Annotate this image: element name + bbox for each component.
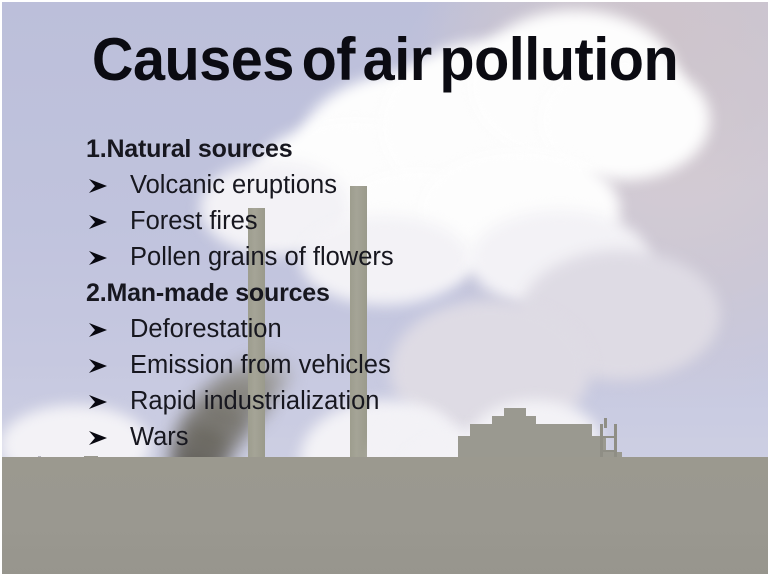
slide-title: Causesofairpollution: [15, 28, 754, 91]
arrowhead-bullet-icon: [88, 311, 116, 347]
outline-bullet-item: Emission from vehicles: [86, 347, 726, 383]
arrowhead-bullet-icon: [88, 203, 116, 239]
outline-heading-label: 2.Man-made sources: [86, 279, 330, 307]
outline-heading: 1.Natural sources: [86, 131, 726, 167]
title-word-2: of: [302, 26, 355, 93]
arrowhead-bullet-icon: [88, 347, 116, 383]
outline-heading: 2.Man-made sources: [86, 275, 726, 311]
outline-bullet-item: Forest fires: [86, 203, 726, 239]
outline-bullet-label: Deforestation: [130, 315, 282, 343]
slide-outline-list: 1.Natural sourcesVolcanic eruptionsFores…: [86, 131, 726, 455]
outline-heading-label: 1.Natural sources: [86, 135, 292, 163]
arrowhead-bullet-icon: [88, 383, 116, 419]
arrowhead-bullet-icon: [88, 239, 116, 275]
outline-bullet-label: Pollen grains of flowers: [130, 243, 394, 271]
outline-bullet-item: Deforestation: [86, 311, 726, 347]
slide-content: Causesofairpollution 1.Natural sourcesVo…: [0, 0, 770, 577]
arrowhead-bullet-icon: [88, 419, 116, 455]
outline-bullet-label: Wars: [130, 423, 189, 451]
arrowhead-bullet-icon: [88, 167, 116, 203]
presentation-slide: Causesofairpollution 1.Natural sourcesVo…: [0, 0, 770, 577]
title-word-1: Causes: [92, 26, 294, 93]
outline-bullet-item: Rapid industrialization: [86, 383, 726, 419]
outline-bullet-label: Emission from vehicles: [130, 351, 391, 379]
outline-bullet-label: Rapid industrialization: [130, 387, 379, 415]
outline-bullet-item: Volcanic eruptions: [86, 167, 726, 203]
outline-bullet-item: Pollen grains of flowers: [86, 239, 726, 275]
title-word-4: pollution: [439, 26, 678, 93]
outline-bullet-item: Wars: [86, 419, 726, 455]
title-word-3: air: [363, 26, 432, 93]
outline-bullet-label: Volcanic eruptions: [130, 171, 337, 199]
outline-bullet-label: Forest fires: [130, 207, 258, 235]
